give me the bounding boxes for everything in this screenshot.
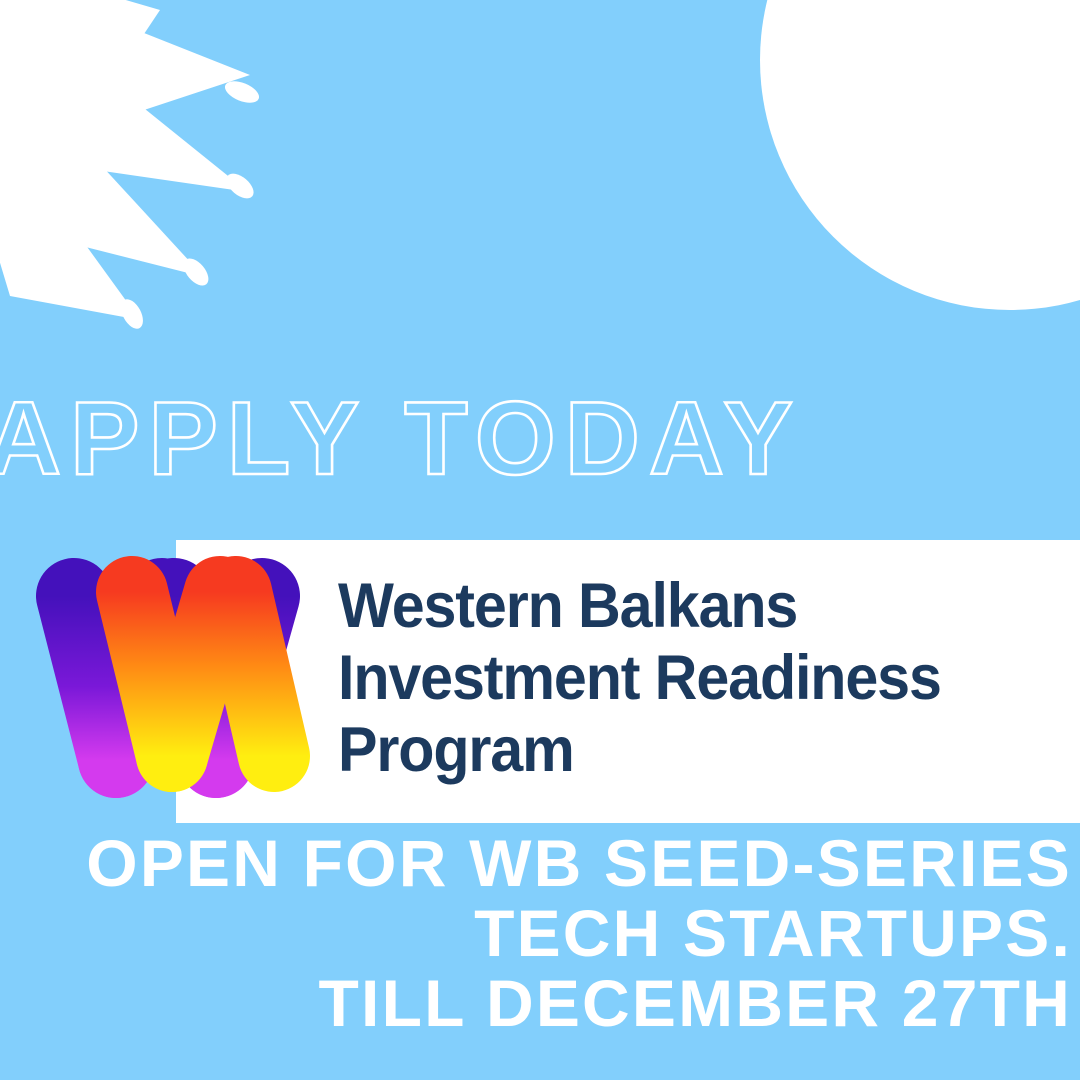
callout-line-3: TILL DECEMBER 27TH [60,968,1072,1038]
sunburst-decoration [0,0,262,332]
program-title-line-2: Investment Readiness [338,642,1034,714]
callout-block: OPEN FOR WB SEED-SERIES TECH STARTUPS. T… [60,828,1072,1038]
headline-text: APPLY TODAY [0,381,802,497]
program-title-line-3: Program [338,714,1034,786]
headline-apply-today: APPLY TODAY [0,392,746,496]
program-title: Western Balkans Investment Readiness Pro… [338,570,1034,786]
poster-canvas: APPLY TODAY [0,0,1080,1080]
circle-decoration [760,0,1080,310]
callout-line-2: TECH STARTUPS. [60,898,1072,968]
program-title-line-1: Western Balkans [338,570,1034,642]
wb-logo-icon [24,548,324,808]
callout-line-1: OPEN FOR WB SEED-SERIES [60,828,1072,898]
